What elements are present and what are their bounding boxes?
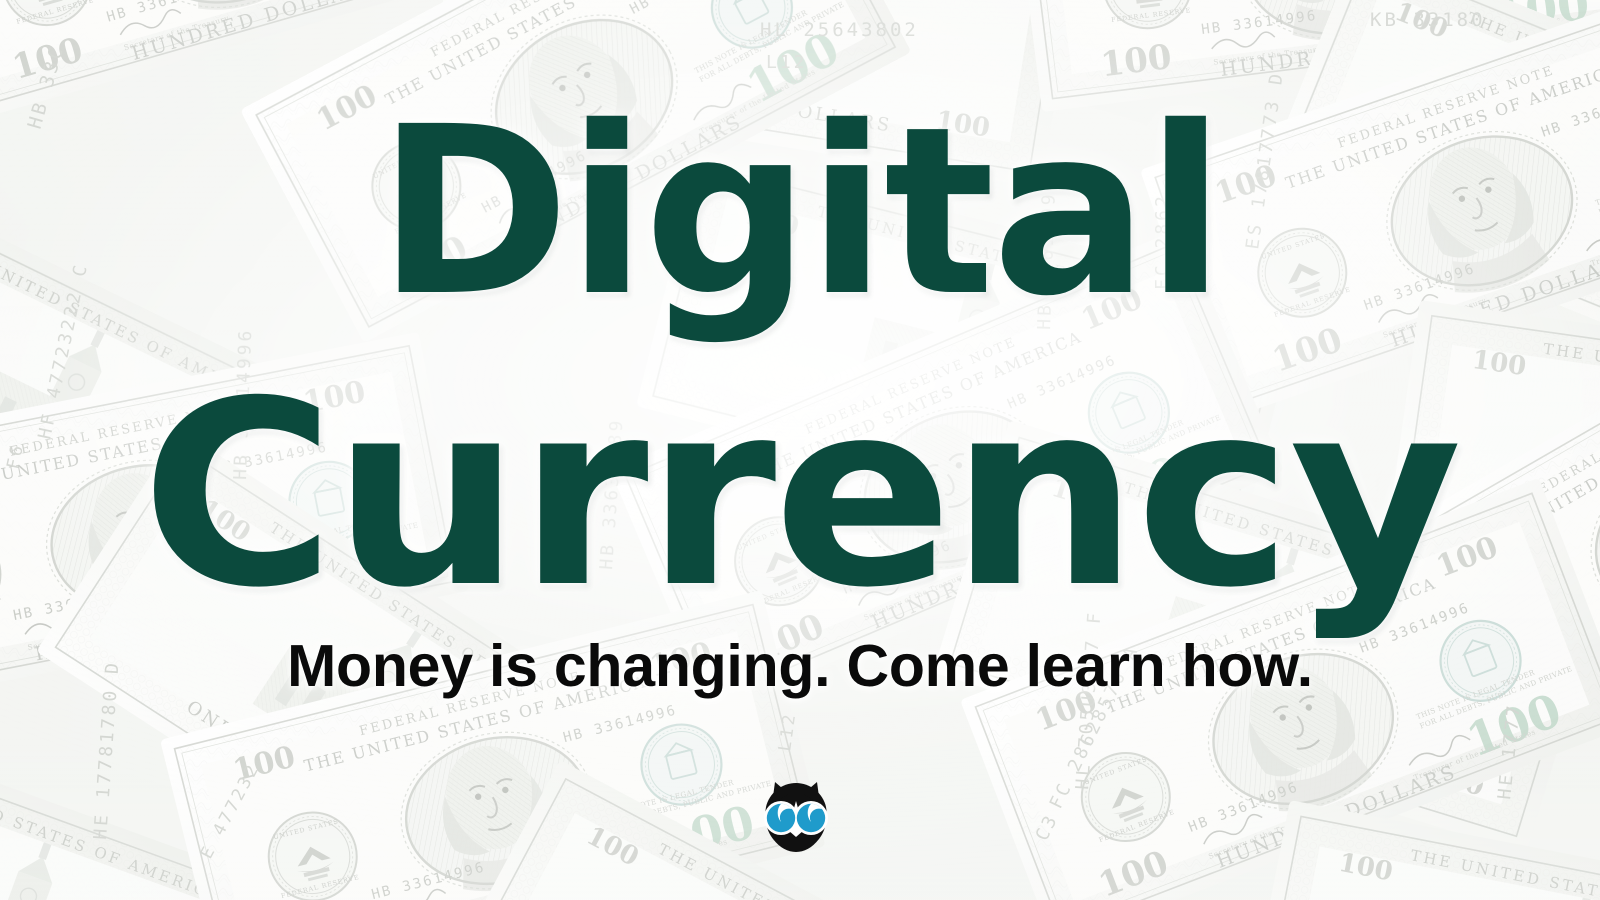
- owl-eye-right: [797, 804, 825, 832]
- page-title-line-1: Digital: [0, 96, 1600, 328]
- banner-content: Digital Currency Money is changing. Come…: [0, 0, 1600, 900]
- banner-subtitle: Money is changing. Come learn how.: [0, 636, 1600, 698]
- page-title-line-2: Currency: [0, 368, 1600, 623]
- owl-eye-left: [767, 804, 795, 832]
- owl-logo: [754, 774, 838, 858]
- digital-currency-banner: FEDERAL RESERVE NOTE THE UNITED STATES O…: [0, 0, 1600, 900]
